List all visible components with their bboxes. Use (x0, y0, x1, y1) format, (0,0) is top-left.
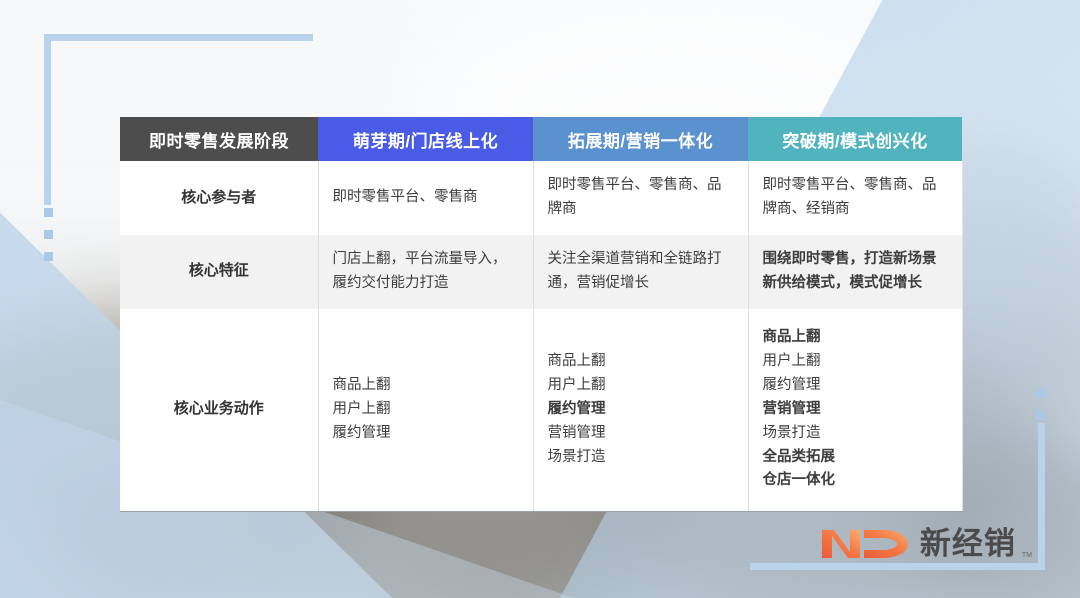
action-list-item: 场景打造 (548, 446, 734, 470)
row-label-features: 核心特征 (120, 235, 318, 309)
action-list-item: 履约管理 (548, 398, 734, 422)
action-list-item: 用户上翻 (333, 398, 519, 422)
cell-actions-phase-1: 商品上翻用户上翻履约管理 (318, 309, 533, 512)
action-list-item: 仓店一体化 (763, 469, 948, 493)
table-header-row: 即时零售发展阶段 萌芽期/门店线上化 拓展期/营销一体化 突破期/模式创兴化 (120, 117, 962, 161)
slide-canvas: 即时零售发展阶段 萌芽期/门店线上化 拓展期/营销一体化 突破期/模式创兴化 核… (0, 0, 1080, 598)
cell-features-phase-1: 门店上翻，平台流量导入，履约交付能力打造 (318, 235, 533, 309)
column-header-phase-3: 突破期/模式创兴化 (748, 117, 962, 161)
row-label-participants: 核心参与者 (120, 161, 318, 235)
cell-actions-phase-2: 商品上翻用户上翻履约管理营销管理场景打造 (533, 309, 748, 512)
action-list-item: 商品上翻 (548, 350, 734, 374)
dot-icon (44, 230, 53, 239)
column-header-stage: 即时零售发展阶段 (120, 117, 318, 161)
nd-logo-mark-icon (820, 522, 912, 562)
table-row: 核心特征 门店上翻，平台流量导入，履约交付能力打造 关注全渠道营销和全链路打通，… (120, 235, 962, 309)
decorative-dots-top-left (44, 208, 53, 274)
dot-icon (44, 208, 53, 217)
table-header: 即时零售发展阶段 萌芽期/门店线上化 拓展期/营销一体化 突破期/模式创兴化 (120, 117, 962, 161)
cell-participants-phase-1: 即时零售平台、零售商 (318, 161, 533, 235)
action-list-phase-1: 商品上翻用户上翻履约管理 (333, 374, 519, 446)
brand-logo: 新经销 TM (820, 522, 1034, 562)
dot-icon (44, 252, 53, 261)
action-list-item: 营销管理 (548, 422, 734, 446)
phase-table-container: 即时零售发展阶段 萌芽期/门店线上化 拓展期/营销一体化 突破期/模式创兴化 核… (120, 117, 962, 512)
action-list-item: 用户上翻 (548, 374, 734, 398)
cell-actions-phase-3: 商品上翻用户上翻履约管理营销管理场景打造全品类拓展仓店一体化 (748, 309, 962, 512)
action-list-phase-2: 商品上翻用户上翻履约管理营销管理场景打造 (548, 350, 734, 470)
cell-participants-phase-3: 即时零售平台、零售商、品牌商、经销商 (748, 161, 962, 235)
action-list-item: 场景打造 (763, 422, 948, 446)
cell-features-phase-2: 关注全渠道营销和全链路打通，营销促增长 (533, 235, 748, 309)
action-list-item: 履约管理 (763, 374, 948, 398)
decorative-dots-bottom-right (1036, 376, 1045, 420)
row-label-actions: 核心业务动作 (120, 309, 318, 512)
action-list-item: 营销管理 (763, 398, 948, 422)
brand-name: 新经销 (920, 529, 1016, 560)
action-list-item: 商品上翻 (763, 326, 948, 350)
column-header-phase-1: 萌芽期/门店线上化 (318, 117, 533, 161)
action-list-item: 用户上翻 (763, 350, 948, 374)
action-list-item: 商品上翻 (333, 374, 519, 398)
dot-icon (1036, 389, 1045, 398)
action-list-item: 履约管理 (333, 422, 519, 446)
cell-features-phase-3: 围绕即时零售，打造新场景新供给模式，模式促增长 (748, 235, 962, 309)
action-list-phase-3: 商品上翻用户上翻履约管理营销管理场景打造全品类拓展仓店一体化 (763, 326, 948, 493)
table-row: 核心参与者 即时零售平台、零售商 即时零售平台、零售商、品牌商 即时零售平台、零… (120, 161, 962, 235)
action-list-item: 全品类拓展 (763, 446, 948, 470)
dot-icon (1036, 411, 1045, 420)
instant-retail-phases-table: 即时零售发展阶段 萌芽期/门店线上化 拓展期/营销一体化 突破期/模式创兴化 核… (120, 117, 963, 512)
column-header-phase-2: 拓展期/营销一体化 (533, 117, 748, 161)
trademark-mark: TM (1022, 552, 1032, 559)
table-body: 核心参与者 即时零售平台、零售商 即时零售平台、零售商、品牌商 即时零售平台、零… (120, 161, 962, 511)
table-row: 核心业务动作 商品上翻用户上翻履约管理 商品上翻用户上翻履约管理营销管理场景打造… (120, 309, 962, 512)
cell-participants-phase-2: 即时零售平台、零售商、品牌商 (533, 161, 748, 235)
